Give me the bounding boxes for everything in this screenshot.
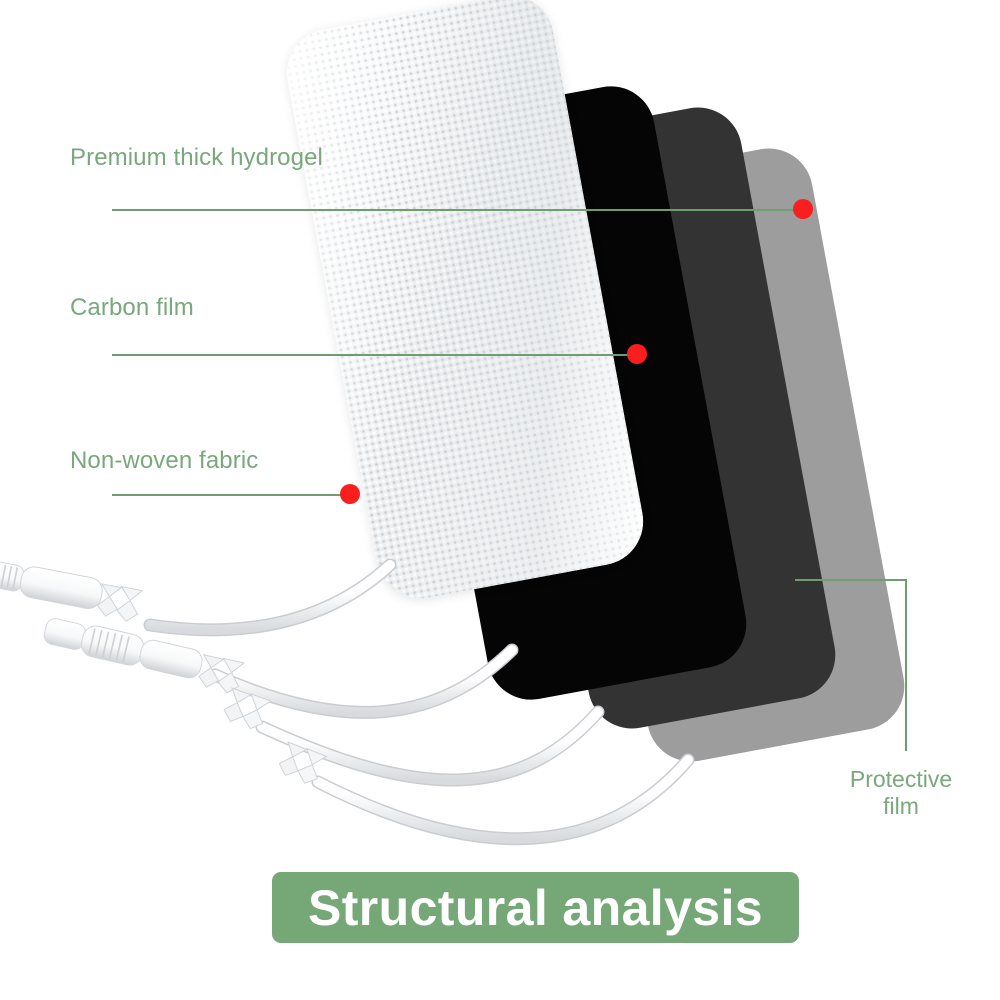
title-banner: Structural analysis [272,872,799,943]
callout-label-hydrogel: Premium thick hydrogel [70,144,323,172]
callout-label-protective-film: Protective film [836,766,966,819]
callout-marker-dot-non-woven-fabric [340,484,360,504]
callout-label-protective-film-line1: Protective [836,766,966,793]
callout-leader-line-hydrogel [112,209,812,211]
callout-leader-line-carbon-film [112,354,646,356]
callout-leader-line-protective-film-vertical [905,579,907,751]
callout-marker-dot-hydrogel [793,199,813,219]
callout-marker-dot-carbon-film [627,344,647,364]
callout-leader-line-non-woven-fabric [112,494,354,496]
callout-label-non-woven-fabric: Non-woven fabric [70,447,258,475]
callout-leader-line-protective-film-horizontal [795,579,907,581]
banner-title-text: Structural analysis [308,879,763,937]
callout-label-protective-film-line2: film [836,793,966,820]
infographic-canvas: Premium thick hydrogel Carbon film Non-w… [0,0,1000,1000]
callout-label-carbon-film: Carbon film [70,294,194,322]
